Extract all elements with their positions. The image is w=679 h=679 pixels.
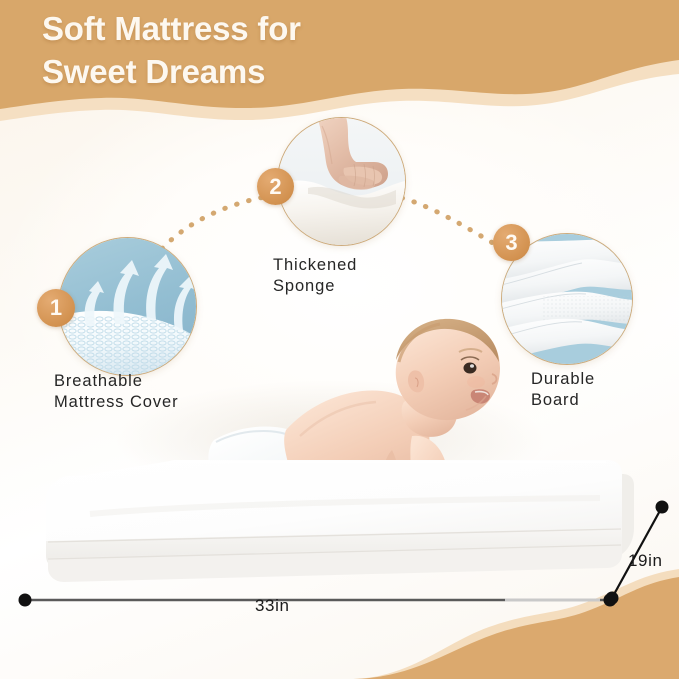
dimension-annotations <box>0 470 679 620</box>
feature-2-image <box>277 117 406 246</box>
dimension-depth-label: 19in <box>628 551 663 571</box>
header-banner: Soft Mattress for Sweet Dreams <box>0 0 679 132</box>
page-title: Soft Mattress for Sweet Dreams <box>42 8 462 94</box>
feature-2-badge: 2 <box>257 168 294 205</box>
dimension-width <box>19 594 617 607</box>
feature-3-badge: 3 <box>493 224 530 261</box>
feature-1-badge: 1 <box>37 289 75 327</box>
feature-thickened-sponge[interactable]: 2 <box>277 117 406 246</box>
dimension-width-label: 33in <box>255 596 290 616</box>
product-infographic: Soft Mattress for Sweet Dreams <box>0 0 679 679</box>
